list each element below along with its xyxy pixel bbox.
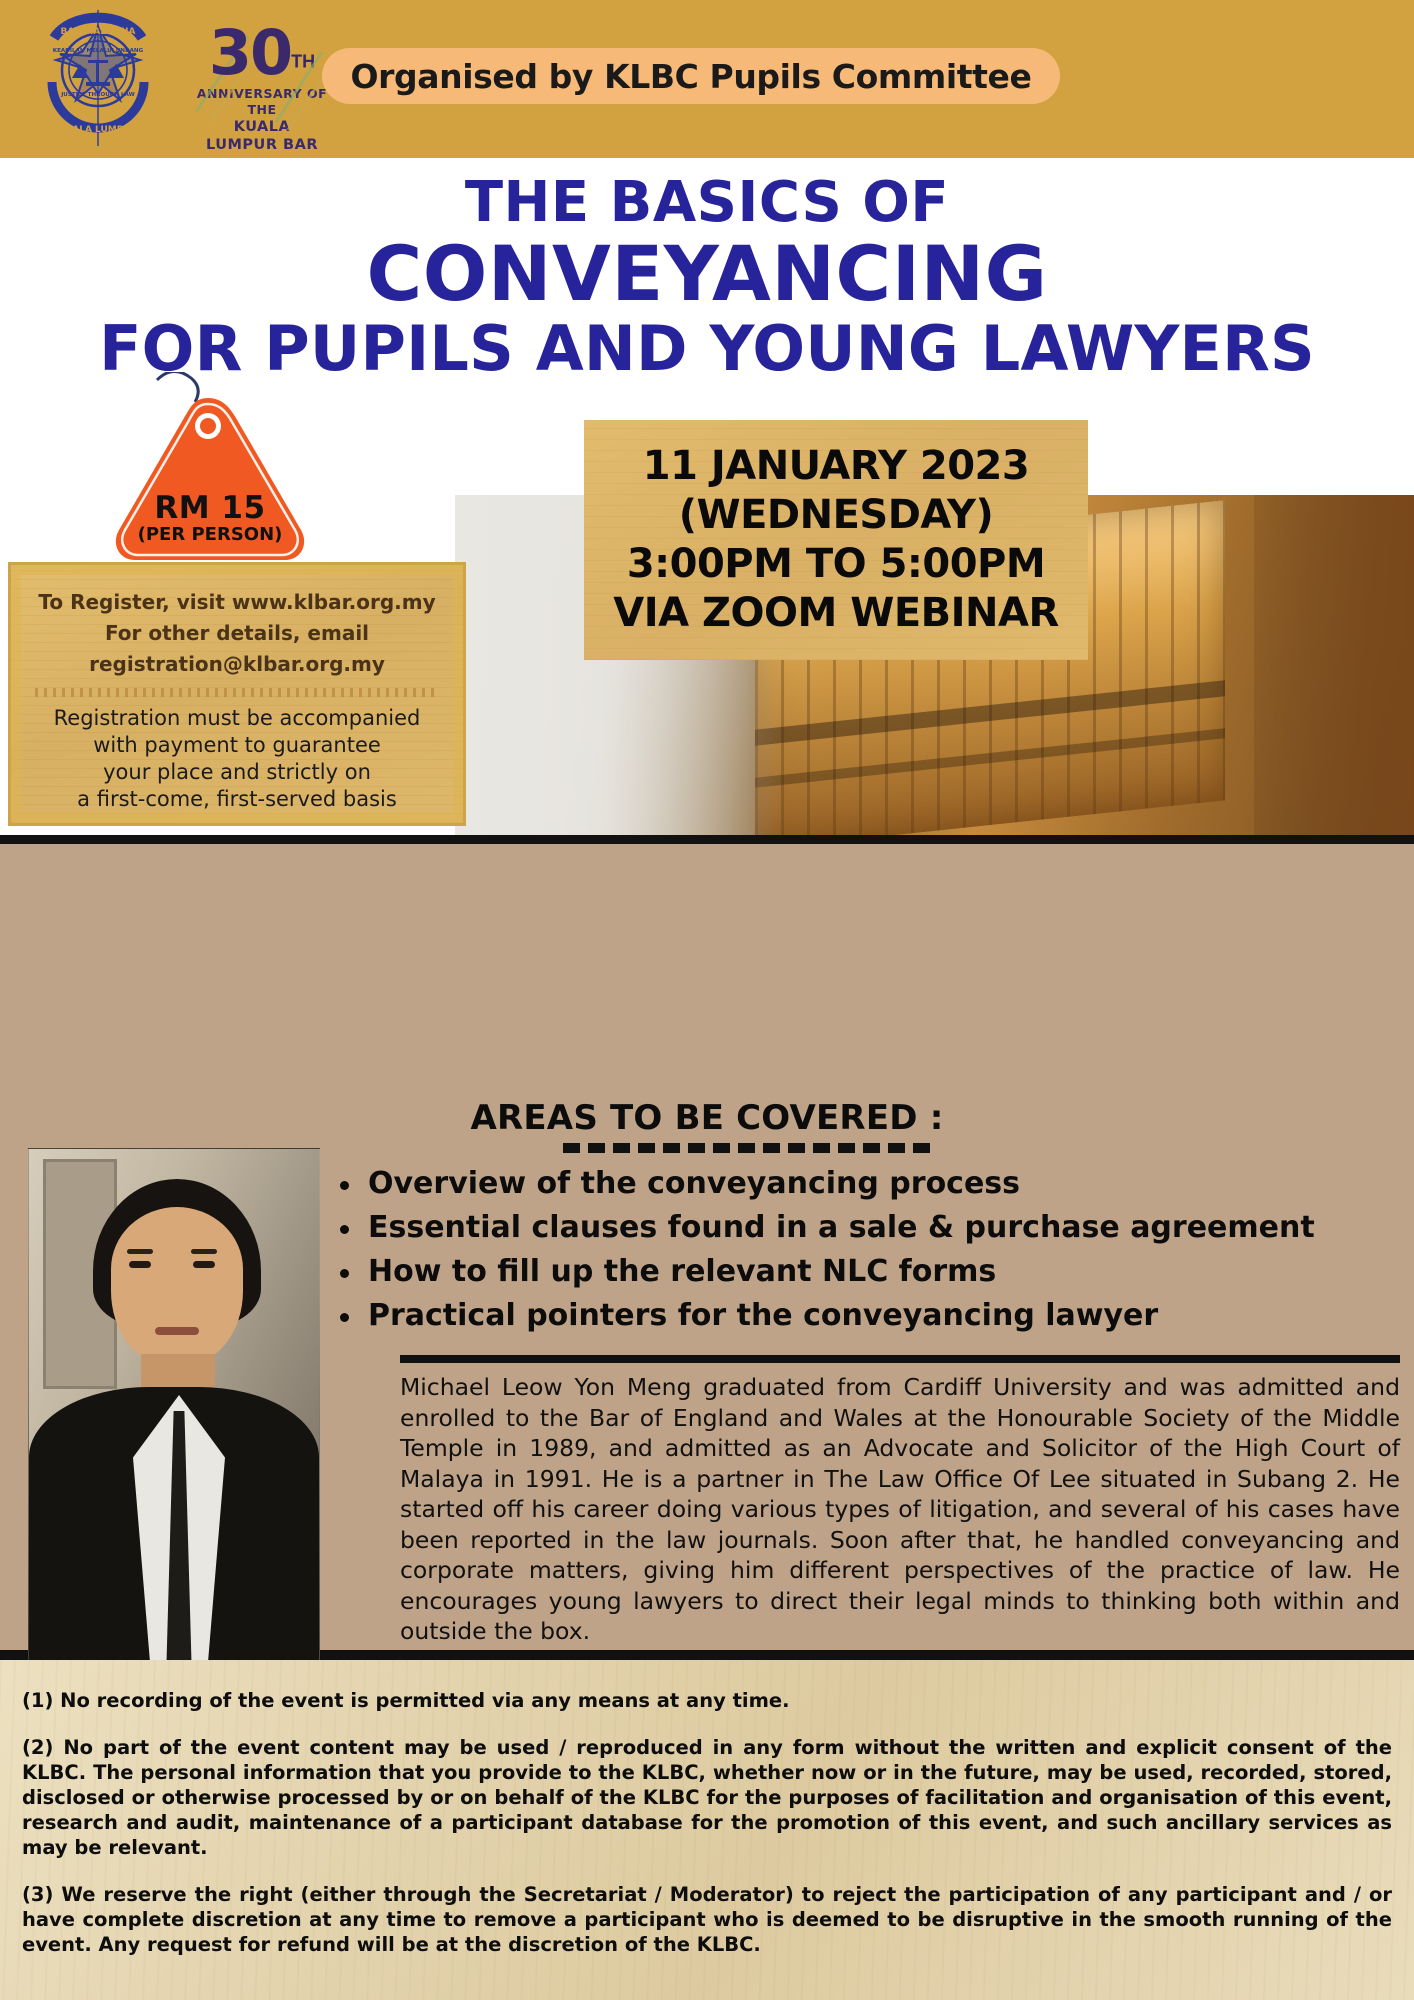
anniversary-number: 30 [209, 22, 291, 84]
anniversary-line2: KUALA LUMPUR BAR [196, 118, 328, 154]
register-email-label: For other details, email [25, 618, 449, 649]
anniversary-ordinal: TH [291, 52, 315, 72]
bio-divider [400, 1355, 1400, 1363]
organised-by-pill: Organised by KLBC Pupils Committee [322, 48, 1060, 104]
organised-by-label: Organised by KLBC Pupils Committee [351, 57, 1032, 96]
price-amount: RM 15 [95, 490, 325, 526]
logo-ring-bottom: JUSTICE THROUGH LAW [60, 92, 135, 98]
register-note-line-4: a first-come, first-served basis [31, 786, 443, 813]
footer-note-3: (3) We reserve the right (either through… [22, 1882, 1392, 1957]
speaker-eyebrow-left [127, 1249, 153, 1254]
logo-bottom-text: KUALA LUMPUR [58, 125, 137, 135]
event-date-box: 11 JANUARY 2023 (WEDNESDAY) 3:00PM TO 5:… [584, 420, 1088, 660]
areas-heading-wrap: AREAS TO BE COVERED : [0, 1098, 1414, 1138]
speaker-photo [28, 1148, 320, 1680]
speaker-eye-left [129, 1261, 151, 1268]
event-time: 3:00PM TO 5:00PM [627, 540, 1045, 589]
register-note-line-3: your place and strictly on [31, 759, 443, 786]
logo-top-text: BAR MALAYSIA [61, 27, 136, 37]
areas-heading: AREAS TO BE COVERED : [470, 1098, 943, 1144]
list-item: Overview of the conveyancing process [330, 1162, 1390, 1206]
list-item: Practical pointers for the conveyancing … [330, 1294, 1390, 1338]
areas-list: Overview of the conveyancing process Ess… [330, 1162, 1390, 1338]
event-platform: VIA ZOOM WEBINAR [613, 589, 1059, 638]
speaker-face [111, 1207, 243, 1365]
header-bar: BAR MALAYSIA KEADILAN MELALUI UNDANG JUS… [0, 0, 1414, 158]
speaker-bio: Michael Leow Yon Meng graduated from Car… [400, 1372, 1400, 1647]
bar-malaysia-logo: BAR MALAYSIA KEADILAN MELALUI UNDANG JUS… [36, 8, 160, 148]
footer-note-1: (1) No recording of the event is permitt… [22, 1688, 1392, 1713]
title-line-2: CONVEYANCING [0, 234, 1414, 314]
anniversary-logo: 30TH ANNIVERSARY OF THE KUALA LUMPUR BAR [196, 22, 328, 140]
event-day: (WEDNESDAY) [679, 491, 994, 540]
logo-ring-top: KEADILAN MELALUI UNDANG [53, 48, 144, 54]
title-line-1: THE BASICS OF [0, 172, 1414, 234]
section-top-rule [0, 835, 1414, 844]
areas-heading-underline [563, 1143, 933, 1153]
list-item: How to fill up the relevant NLC forms [330, 1250, 1390, 1294]
speaker-mouth [155, 1327, 199, 1335]
terms-footer: (1) No recording of the event is permitt… [0, 1660, 1414, 2000]
page-title: THE BASICS OF CONVEYANCING FOR PUPILS AN… [0, 172, 1414, 384]
speaker-eye-right [193, 1261, 215, 1268]
register-divider [35, 688, 439, 697]
register-email-address: registration@klbar.org.my [25, 649, 449, 680]
venue-photo-shadow [1254, 495, 1414, 835]
price-tag: RM 15 (PER PERSON) [95, 372, 325, 567]
register-note-line-2: with payment to guarantee [31, 732, 443, 759]
footer-note-2: (2) No part of the event content may be … [22, 1735, 1392, 1860]
price-per-person: (PER PERSON) [95, 524, 325, 545]
registration-box: To Register, visit www.klbar.org.my For … [8, 562, 466, 826]
register-website-line: To Register, visit www.klbar.org.my [25, 587, 449, 618]
anniversary-line1: ANNIVERSARY OF THE [196, 86, 328, 118]
event-date: 11 JANUARY 2023 [643, 442, 1029, 491]
register-note-line-1: Registration must be accompanied [31, 705, 443, 732]
list-item: Essential clauses found in a sale & purc… [330, 1206, 1390, 1250]
speaker-eyebrow-right [191, 1249, 217, 1254]
